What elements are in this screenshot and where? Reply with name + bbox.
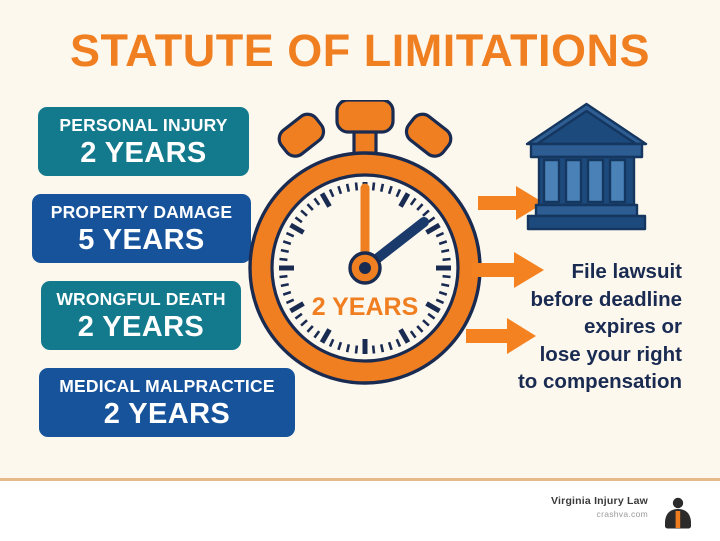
stat-box-wrongful-death: WRONGFUL DEATH 2 YEARS	[41, 281, 241, 350]
stat-label: PERSONAL INJURY	[38, 114, 249, 136]
brand-name: Virginia Injury Law	[468, 495, 648, 508]
page-title: STATUTE OF LIMITATIONS	[0, 26, 720, 76]
stat-box-property-damage: PROPERTY DAMAGE 5 YEARS	[32, 194, 251, 263]
stat-value: 2 YEARS	[41, 310, 241, 344]
callout-line-4: lose your right	[490, 341, 682, 369]
courthouse-icon	[524, 100, 649, 235]
person-shield-logo-icon	[658, 492, 698, 532]
callout-line-5: to compensation	[490, 368, 682, 396]
stat-label: PROPERTY DAMAGE	[32, 201, 251, 223]
callout-text: File lawsuit before deadline expires or …	[490, 258, 682, 396]
callout-line-3: expires or	[490, 313, 682, 341]
stopwatch-face-label: 2 YEARS	[312, 293, 419, 321]
infographic-canvas: STATUTE OF LIMITATIONS PERSONAL INJURY 2…	[0, 0, 720, 541]
brand-block: Virginia Injury Law crashva.com	[468, 495, 648, 520]
stat-box-personal-injury: PERSONAL INJURY 2 YEARS	[38, 107, 249, 176]
callout-line-1: File lawsuit	[490, 258, 682, 286]
stat-value: 2 YEARS	[38, 136, 249, 170]
stat-value: 2 YEARS	[39, 397, 295, 431]
callout-line-2: before deadline	[490, 286, 682, 314]
stat-label: WRONGFUL DEATH	[41, 288, 241, 310]
brand-site: crashva.com	[468, 508, 648, 520]
stopwatch-icon: 2 YEARS	[240, 100, 490, 390]
stat-value: 5 YEARS	[32, 223, 251, 257]
